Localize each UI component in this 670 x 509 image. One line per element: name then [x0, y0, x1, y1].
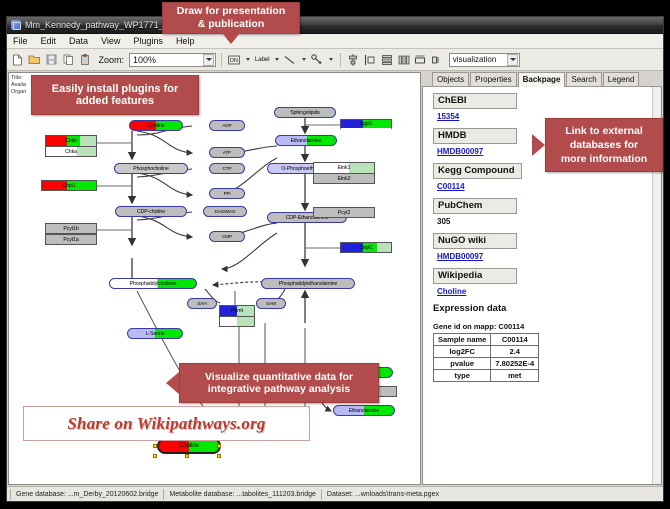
db-header-nugo: NuGO wiki	[433, 233, 517, 249]
table-row: type met	[434, 370, 539, 382]
selection-handle-w[interactable]	[153, 444, 157, 448]
db-value-pubchem: 305	[437, 217, 661, 226]
node-dag-mag[interactable]: DAG/MAG	[203, 206, 247, 217]
node-ethanolamine-bottom[interactable]: Ethanolamine	[333, 405, 395, 416]
title-bar: Mm_Kennedy_pathway_WP1771_45176.gpml	[7, 17, 663, 34]
tab-search[interactable]: Search	[566, 72, 601, 86]
node-etnk1[interactable]: Etnk1	[313, 162, 375, 173]
menu-item-file[interactable]: File	[11, 36, 30, 46]
callout-links-line2: databases for	[570, 138, 638, 152]
expression-data-heading: Expression data	[433, 303, 661, 314]
share-callout-text: Share on Wikipathways.org	[67, 414, 265, 434]
table-row: log2FC 2.4	[434, 346, 539, 358]
node-phosphatidylcholines[interactable]: Phosphatidylcholines	[109, 278, 197, 289]
node-sam[interactable]: SAM	[256, 298, 286, 309]
node-chkb[interactable]: Chkb	[45, 135, 97, 146]
menu-bar[interactable]: File Edit Data View Plugins Help	[7, 34, 663, 49]
line-tool-icon[interactable]	[283, 52, 298, 67]
label-tool-icon[interactable]: Label	[253, 52, 271, 67]
shape-tool-icon[interactable]	[310, 52, 325, 67]
label-dropdown-icon[interactable]	[273, 52, 281, 67]
db-header-hmdb: HMDB	[433, 128, 517, 144]
toolbar-separator-2	[340, 53, 341, 67]
visualization-value: visualization	[453, 55, 497, 64]
db-link-wikipedia[interactable]: Choline	[437, 287, 661, 296]
node-adp[interactable]: ADP	[209, 120, 245, 131]
node-phosphocholine[interactable]: Phosphocholine	[114, 163, 188, 174]
table-row: Sample name C00114	[434, 334, 539, 346]
save-disk-icon[interactable]	[44, 52, 59, 67]
status-dataset: Dataset: ...wnloads\trans-meta.pgex	[321, 489, 444, 500]
selection-handle-sw[interactable]	[153, 454, 157, 458]
callout-links-arrow	[532, 134, 545, 156]
callout-links: Link to external databases for more info…	[545, 118, 663, 172]
datanode-dropdown-icon[interactable]	[243, 52, 251, 67]
node-sphingolipids[interactable]: Sphingolipids	[274, 107, 336, 118]
node-atp[interactable]: ATP	[209, 147, 245, 158]
status-gene-database: Gene database: ...m_Derby_20120602.bridg…	[10, 489, 163, 500]
node-ctp[interactable]: CTP	[209, 163, 245, 174]
node-sgpl1[interactable]: Sgpl1	[340, 119, 392, 130]
node-etnk2[interactable]: Etnk2	[313, 173, 375, 184]
node-pcyt2[interactable]: Pcyt2	[313, 207, 375, 218]
expr-val-pvalue: 7.80252E-4	[491, 358, 539, 370]
node-cdp-choline[interactable]: CDP-choline	[115, 206, 187, 217]
table-row: pvalue 7.80252E-4	[434, 358, 539, 370]
node-l-serine-left[interactable]: L-Serine	[127, 328, 183, 339]
callout-links-line1: Link to external	[565, 124, 643, 138]
visualization-combo[interactable]: visualization	[449, 53, 520, 67]
tab-properties[interactable]: Properties	[470, 72, 516, 86]
new-file-icon[interactable]	[10, 52, 25, 67]
tab-objects[interactable]: Objects	[432, 72, 469, 86]
callout-plugins-line2: added features	[76, 95, 154, 107]
toolbar: Zoom: 100% DN Label	[7, 49, 663, 71]
node-pcyt1a[interactable]: Pcyt1a	[45, 234, 97, 245]
callout-links-line3: more information	[561, 152, 647, 166]
node-ethanolamine-top[interactable]: Ethanolamine	[275, 135, 337, 146]
menu-item-data[interactable]: Data	[67, 36, 90, 46]
shape-dropdown-icon[interactable]	[327, 52, 335, 67]
callout-visualize-arrow	[166, 372, 179, 394]
toolbar-separator	[221, 53, 222, 67]
chevron-down-icon[interactable]	[203, 54, 214, 66]
node-choline-top[interactable]: Choline	[129, 120, 183, 131]
callout-visualize-line1: Visualize quantitative data for	[205, 371, 353, 383]
tab-backpage[interactable]: Backpage	[518, 72, 566, 87]
node-cmp[interactable]: CMP	[209, 231, 245, 242]
zoom-label: Zoom:	[99, 55, 125, 65]
callout-plugins-arrow	[97, 72, 115, 73]
selection-handle-s[interactable]	[185, 454, 189, 458]
selection-handle-se[interactable]	[217, 454, 221, 458]
callout-draw-line2: & publication	[198, 18, 265, 31]
node-phosphatidylethanolamine[interactable]: Phosphatidylethanolamine	[261, 278, 355, 289]
align-left-icon[interactable]	[362, 52, 377, 67]
visualization-chevron-icon[interactable]	[507, 54, 518, 66]
callout-draw-arrow	[222, 33, 240, 44]
distribute-icon[interactable]	[396, 52, 411, 67]
callout-visualize-line2: integrative pathway analysis	[208, 383, 350, 395]
expression-gene-id: Gene id on mapp: C00114	[433, 322, 661, 331]
node-chka[interactable]: Chka	[45, 146, 97, 157]
expr-key-sample-name: Sample name	[434, 334, 491, 346]
application-window: Mm_Kennedy_pathway_WP1771_45176.gpml Fil…	[6, 16, 664, 502]
zoom-combo[interactable]: 100%	[129, 53, 216, 67]
expr-key-pvalue: pvalue	[434, 358, 491, 370]
open-folder-icon[interactable]	[27, 52, 42, 67]
node-cept1[interactable]: Cept1	[340, 242, 392, 253]
tab-legend[interactable]: Legend	[603, 72, 640, 86]
db-header-chebi: ChEBI	[433, 93, 517, 109]
expr-val-log2fc: 2.4	[491, 346, 539, 358]
db-header-wikipedia: Wikipedia	[433, 268, 517, 284]
expr-key-log2fc: log2FC	[434, 346, 491, 358]
callout-visualize: Visualize quantitative data for integrat…	[179, 363, 379, 403]
node-pemt-top[interactable]: Pemt	[219, 305, 255, 316]
datanode-tool-icon[interactable]: DN	[227, 52, 241, 67]
callout-plugins: Easily install plugins for added feature…	[31, 75, 199, 115]
label-tool-text: Label	[255, 56, 269, 63]
stack-icon[interactable]	[379, 52, 394, 67]
pathway-canvas[interactable]: Title: Availa Organ	[8, 72, 421, 485]
db-header-kegg: Kegg Compound	[433, 163, 522, 179]
order-icon[interactable]	[430, 52, 445, 67]
node-pcyt1b[interactable]: Pcyt1b	[45, 223, 97, 234]
zoom-value: 100%	[133, 55, 156, 65]
callout-draw: Draw for presentation & publication	[162, 2, 300, 34]
node-ppi[interactable]: PPi	[209, 188, 245, 199]
node-pemt-bottom[interactable]	[219, 316, 255, 327]
node-chpt1[interactable]: Chpt1	[41, 180, 97, 191]
callout-plugins-line1: Easily install plugins for	[52, 83, 179, 95]
line-dropdown-icon[interactable]	[300, 52, 308, 67]
common-size-icon[interactable]	[413, 52, 428, 67]
status-metabolite-database: Metabolite database: ...tabolites_111203…	[163, 489, 320, 500]
node-sah[interactable]: SAH	[187, 298, 217, 309]
menu-item-edit[interactable]: Edit	[39, 36, 59, 46]
copy-icon[interactable]	[61, 52, 76, 67]
expr-val-type: met	[491, 370, 539, 382]
selection-handle-e[interactable]	[217, 444, 221, 448]
db-link-kegg[interactable]: C00114	[437, 182, 661, 191]
db-header-pubchem: PubChem	[433, 198, 517, 214]
share-callout: Share on Wikipathways.org	[23, 406, 310, 441]
menu-item-plugins[interactable]: Plugins	[131, 36, 165, 46]
callout-draw-line1: Draw for presentation	[177, 5, 286, 18]
expr-val-sample-name: C00114	[491, 334, 539, 346]
expression-table: Sample name C00114 log2FC 2.4 pvalue 7.8…	[433, 333, 539, 382]
app-icon	[11, 20, 21, 30]
paste-icon[interactable]	[78, 52, 93, 67]
side-panel-tabs[interactable]: Objects Properties Backpage Search Legen…	[422, 72, 662, 87]
menu-item-help[interactable]: Help	[174, 36, 197, 46]
status-bar: Gene database: ...m_Derby_20120602.bridg…	[7, 486, 663, 501]
expr-key-type: type	[434, 370, 491, 382]
align-center-icon[interactable]	[346, 52, 361, 67]
db-link-nugo[interactable]: HMDB00097	[437, 252, 661, 261]
svg-text:DN: DN	[230, 57, 238, 63]
menu-item-view[interactable]: View	[99, 36, 122, 46]
